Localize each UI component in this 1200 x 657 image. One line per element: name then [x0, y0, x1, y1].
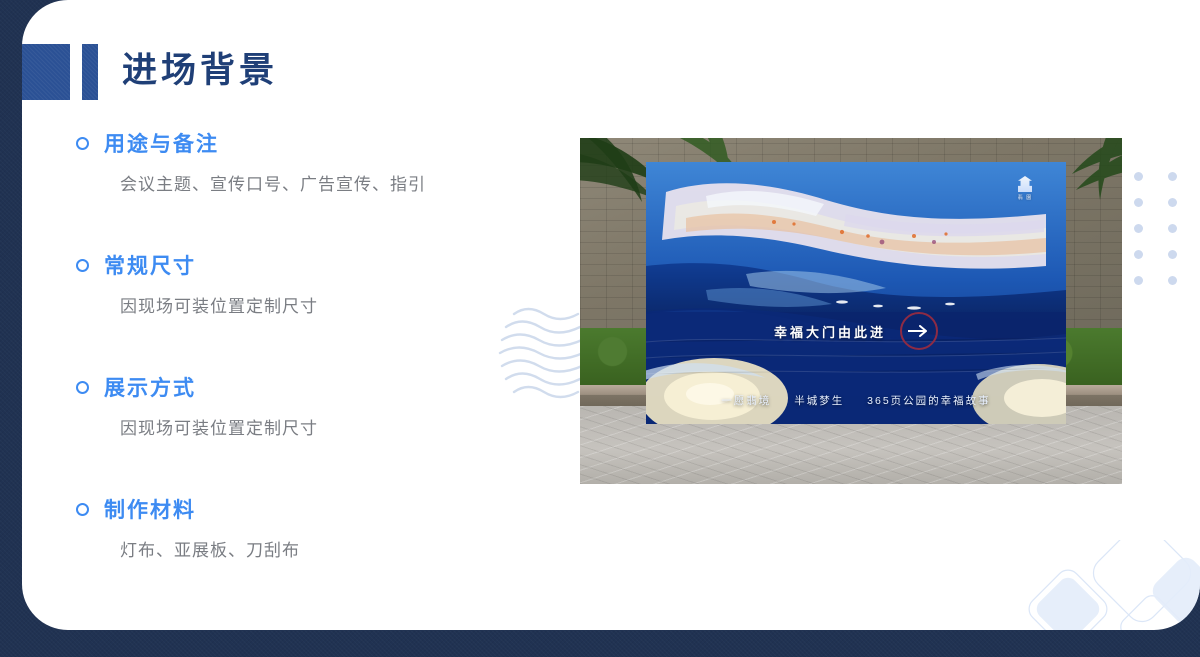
bullet-subtitle: 因现场可装位置定制尺寸	[120, 292, 544, 317]
rounded-diamond-decoration	[1007, 540, 1200, 630]
circle-marker-icon	[76, 503, 89, 516]
list-item[interactable]: 常规尺寸 因现场可装位置定制尺寸	[74, 248, 544, 370]
bullet-subtitle: 因现场可装位置定制尺寸	[120, 414, 544, 439]
decorative-dot	[1134, 276, 1143, 285]
bullet-title: 用途与备注	[104, 128, 219, 158]
circle-marker-icon	[76, 259, 89, 272]
billboard-tagline: 一愿翡境 半城梦生 365页公园的幸福故事	[646, 393, 1066, 408]
decorative-dot	[1134, 172, 1143, 181]
decorative-dot	[1168, 276, 1177, 285]
decorative-dot	[1168, 198, 1177, 207]
decorative-dot	[1168, 172, 1177, 181]
circle-marker-icon	[76, 381, 89, 394]
list-item[interactable]: 制作材料 灯布、亚展板、刀刮布	[74, 492, 544, 614]
bullet-title: 展示方式	[104, 372, 196, 402]
entrance-billboard-photo[interactable]: 翡 園 幸福大门由此进 一愿翡境 半城梦生 365页公园的幸福故事	[580, 138, 1122, 484]
page-title: 进场背景	[122, 42, 278, 100]
dot-grid-decoration	[1134, 172, 1200, 302]
decorative-dot	[1134, 250, 1143, 259]
slide-card: 进场背景 用途与备注 会议主题、宣传口号、广告宣传、指引 常规尺寸 因	[22, 0, 1200, 630]
bullet-subtitle: 灯布、亚展板、刀刮布	[120, 536, 544, 561]
slide-root: 进场背景 用途与备注 会议主题、宣传口号、广告宣传、指引 常规尺寸 因	[0, 0, 1200, 657]
title-accent-block-small	[82, 44, 98, 100]
list-item[interactable]: 展示方式 因现场可装位置定制尺寸	[74, 370, 544, 492]
tagline-part-3: 365页公园的幸福故事	[867, 395, 991, 407]
bullet-list: 用途与备注 会议主题、宣传口号、广告宣传、指引 常规尺寸 因现场可装位置定制尺寸…	[74, 126, 544, 614]
tagline-part-2: 半城梦生	[794, 395, 844, 407]
decorative-dot	[1134, 224, 1143, 233]
decorative-dot	[1134, 198, 1143, 207]
title-accent-block-large	[22, 44, 70, 100]
billboard-artwork	[646, 162, 1066, 424]
arrow-right-icon	[900, 312, 938, 350]
billboard-logo: 翡 園	[1004, 176, 1046, 202]
bullet-title: 制作材料	[104, 494, 196, 524]
bullet-subtitle: 会议主题、宣传口号、广告宣传、指引	[120, 170, 544, 195]
billboard-slogan-row: 幸福大门由此进	[646, 312, 1066, 350]
billboard[interactable]: 翡 園 幸福大门由此进 一愿翡境 半城梦生 365页公园的幸福故事	[646, 162, 1066, 424]
decorative-dot	[1168, 224, 1177, 233]
decorative-dot	[1168, 250, 1177, 259]
tagline-part-1: 一愿翡境	[721, 395, 771, 407]
billboard-logo-text: 翡 園	[1004, 195, 1046, 202]
billboard-logo-mark-icon	[1018, 176, 1032, 192]
list-item[interactable]: 用途与备注 会议主题、宣传口号、广告宣传、指引	[74, 126, 544, 248]
circle-marker-icon	[76, 137, 89, 150]
bullet-title: 常规尺寸	[104, 250, 196, 280]
billboard-slogan-text: 幸福大门由此进	[774, 322, 886, 341]
